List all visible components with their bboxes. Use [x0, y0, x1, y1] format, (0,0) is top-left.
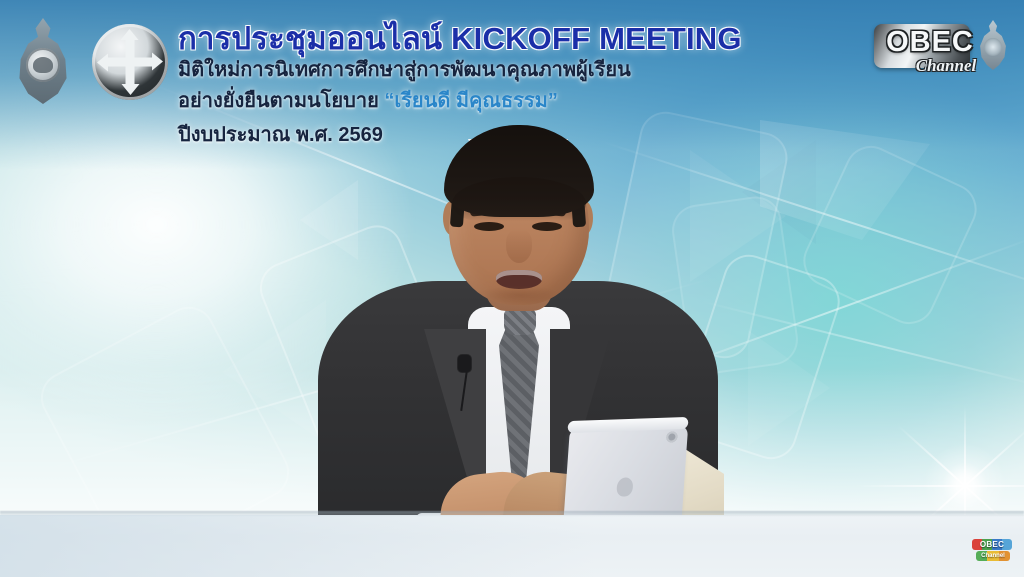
obec-channel-logo: OBEC Channel: [864, 16, 1012, 88]
policy-quote: “เรียนดี มีคุณธรรม”: [384, 90, 558, 112]
title-block: การประชุมออนไลน์ KICKOFF MEETING มิติใหม…: [178, 22, 818, 150]
eye-right: [532, 222, 562, 231]
arrow-left: [106, 58, 130, 67]
obec-wordmark: OBEC: [876, 28, 984, 57]
flare-ray: [855, 485, 1024, 487]
necktie-knot: [504, 309, 536, 335]
thai-ministry-garuda-seal-icon: [12, 18, 74, 104]
tablet-camera-icon: [666, 431, 678, 442]
watermark-bottom-text: Channel: [976, 552, 1010, 560]
broadcast-screenshot: การประชุมออนไลน์ KICKOFF MEETING มิติใหม…: [0, 0, 1024, 577]
subtitle-line-2: อย่างยั่งยืนตามนโยบาย “เรียนดี มีคุณธรรม…: [178, 86, 818, 116]
lapel-microphone-icon: [458, 355, 471, 372]
desk-surface: [0, 515, 1024, 577]
fiscal-year: ปีงบประมาณ พ.ศ. 2569: [178, 118, 818, 150]
chin-shadow: [478, 285, 560, 305]
obec-channel-script: Channel: [898, 56, 994, 76]
desk-shading: [0, 515, 594, 577]
obec-circular-arrow-seal-icon: [92, 24, 168, 100]
subtitle-line-1: มิติใหม่การนิเทศการศึกษาสู่การพัฒนาคุณภา…: [178, 55, 818, 85]
four-arrow-cross-icon: [104, 36, 156, 88]
nose: [506, 229, 532, 263]
page-title: การประชุมออนไลน์ KICKOFF MEETING: [178, 22, 818, 55]
garuda-emblem-center: [26, 48, 60, 82]
eye-left: [474, 222, 504, 231]
subtitle-prefix: อย่างยั่งยืนตามนโยบาย: [178, 90, 379, 112]
tablet-logo-icon: [616, 478, 633, 498]
watermark-top-text: OBEC: [972, 540, 1012, 549]
corner-watermark: OBEC Channel: [972, 539, 1012, 565]
